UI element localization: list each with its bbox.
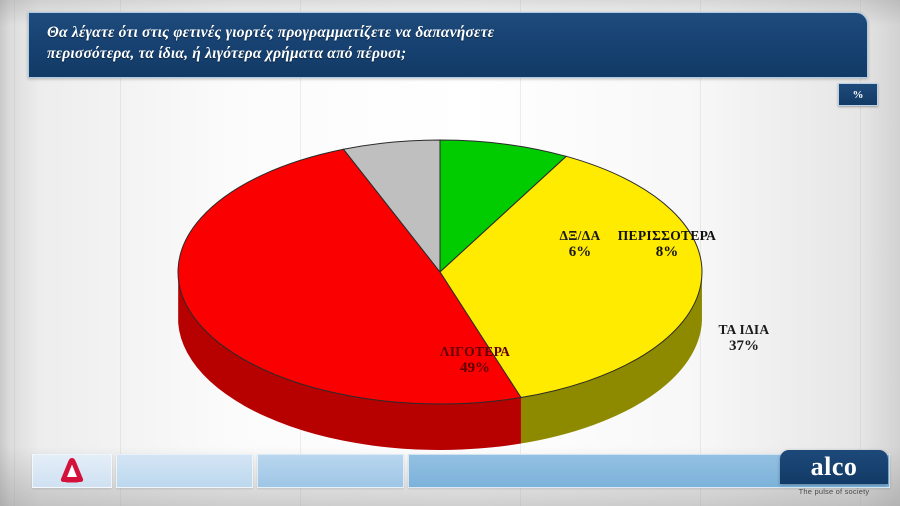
- alco-wordmark: alco: [811, 454, 858, 480]
- alco-brand: alco The pulse of society: [780, 450, 888, 500]
- footer-band: alco The pulse of society: [0, 446, 900, 506]
- alco-tagline: The pulse of society: [780, 487, 888, 496]
- question-line-1: Θα λέγατε ότι στις φετινές γιορτές προγρ…: [47, 22, 851, 43]
- footer-segment-broadcaster: [32, 454, 112, 488]
- footer-segments: [32, 454, 900, 488]
- pie-chart-svg: [160, 100, 740, 420]
- pie-top-face: [178, 140, 702, 404]
- alco-logo-box: alco: [780, 450, 888, 484]
- question-title-bar: Θα λέγατε ότι στις φετινές γιορτές προγρ…: [28, 12, 868, 78]
- question-line-2: περισσότερα, τα ίδια, ή λιγότερα χρήματα…: [47, 43, 851, 64]
- footer-segment-3: [257, 454, 404, 488]
- slide-canvas: Θα λέγατε ότι στις φετινές γιορτές προγρ…: [0, 0, 900, 506]
- percent-unit-badge: %: [838, 83, 878, 106]
- pie-chart: ΔΞ/ΔΑ 6% ΠΕΡΙΣΣΟΤΕΡΑ 8% ΤΑ ΙΔΙΑ 37% ΛΙΓΟ…: [160, 100, 740, 420]
- footer-segment-2: [116, 454, 253, 488]
- alpha-a-logo-icon: [57, 456, 87, 486]
